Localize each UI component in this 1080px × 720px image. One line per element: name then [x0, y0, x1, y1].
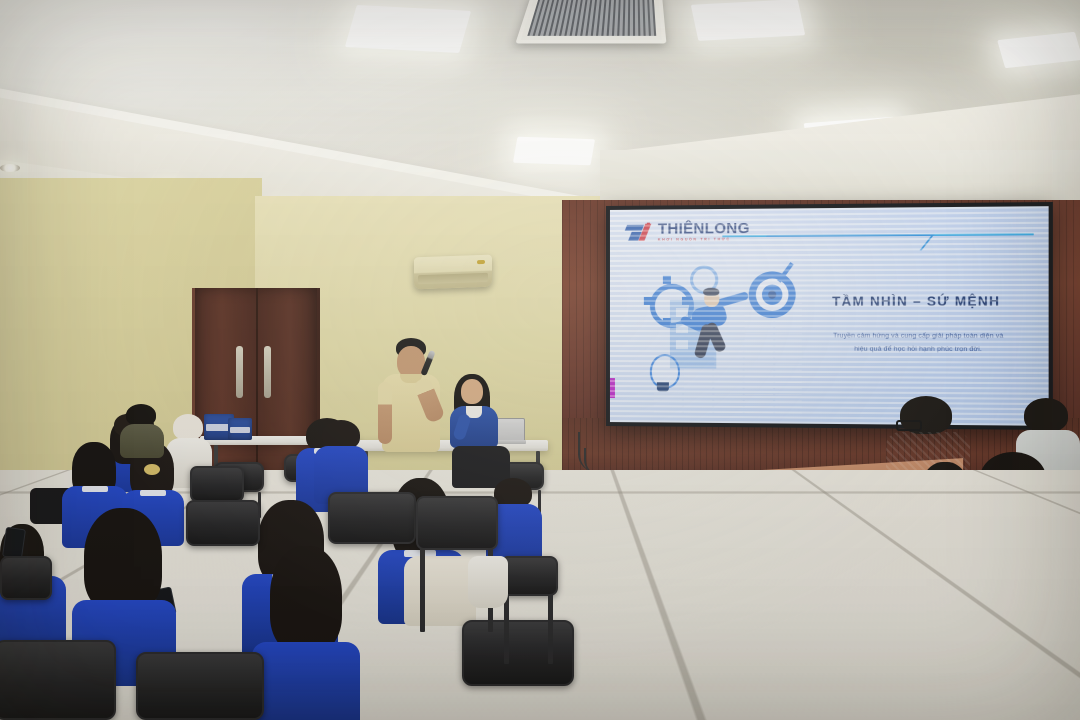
door-handle-left[interactable] — [236, 346, 243, 398]
gear-tooth — [644, 297, 652, 305]
host-head — [461, 379, 483, 404]
gear-tooth — [663, 276, 671, 284]
chair-backrest — [854, 492, 934, 548]
audience-member — [252, 546, 360, 720]
ac-vent — [418, 273, 488, 284]
audience-shirt-olive — [120, 424, 164, 458]
chair-backrest — [0, 556, 52, 600]
chair-backrest — [416, 496, 498, 550]
chart-bar — [745, 312, 774, 413]
bin-label — [230, 427, 250, 433]
ceiling-panel-light — [345, 5, 471, 53]
ac-indicator-led — [477, 260, 485, 264]
chair-leg — [548, 594, 553, 664]
chair-leg — [420, 548, 425, 632]
audience-hair — [270, 546, 342, 652]
audience-hair — [84, 508, 162, 612]
chair-backrest — [190, 466, 244, 502]
chair-leg — [504, 594, 509, 664]
chair-backrest — [462, 620, 574, 686]
ceiling-panel-light — [691, 0, 805, 41]
chair-backrest — [186, 500, 260, 546]
slide-header-chevron — [755, 234, 935, 251]
slide-subtitle: Truyền cảm hứng và cung cấp giải pháp to… — [798, 330, 1040, 356]
white-bag-on-chair — [468, 556, 508, 608]
audience-member — [314, 420, 368, 500]
slide-panel-row — [676, 340, 688, 349]
climbing-person-hair — [703, 288, 719, 296]
presentation-slide: THIÊNLONG KHƠI NGUỒN TRI THỨC — [610, 206, 1049, 426]
chair-leg — [892, 636, 898, 716]
audience-member — [120, 404, 164, 454]
brand-tagline: KHƠI NGUỒN TRI THỨC — [658, 238, 750, 242]
chair-leg — [990, 636, 996, 716]
thienlong-logo: THIÊNLONG KHƠI NGUỒN TRI THỨC — [626, 221, 750, 243]
recessed-downlight — [0, 164, 20, 172]
slide-illustration — [644, 261, 818, 420]
chair-backrest — [840, 600, 900, 644]
target-bullseye — [768, 291, 776, 299]
door-seam — [256, 288, 258, 478]
presentation-room-photo: THIÊNLONG KHƠI NGUỒN TRI THỨC — [0, 0, 1080, 720]
audience-hair — [1024, 398, 1068, 432]
audience-hair — [980, 452, 1046, 504]
ceiling-cassette-ac-icon — [515, 0, 666, 43]
slide-subtitle-line-2: hiệu quả để học hỏi hạnh phúc trọn đời. — [798, 343, 1040, 356]
chair-backrest — [0, 640, 116, 720]
chart-bar — [684, 366, 712, 413]
audience-collar — [140, 490, 166, 496]
wall-split-air-conditioner — [414, 255, 492, 290]
slide-subtitle-line-1: Truyền cảm hứng và cung cấp giải pháp to… — [798, 330, 1040, 343]
thienlong-logo-mark-icon — [626, 222, 654, 241]
slide-title: TẦM NHÌN – SỨ MỆNH — [802, 293, 1032, 309]
blue-storage-bin — [228, 418, 252, 440]
hair-scrunchie — [144, 464, 160, 475]
chair-backrest — [886, 560, 1002, 638]
chair-backrest — [1010, 528, 1080, 578]
ceiling-panel-light — [513, 137, 595, 166]
chair-backrest — [136, 652, 264, 720]
led-video-wall[interactable]: THIÊNLONG KHƠI NGUỒN TRI THỨC — [606, 202, 1053, 430]
audience-collar — [992, 500, 1032, 508]
audience-collar — [82, 486, 108, 492]
presenter-with-microphone — [378, 338, 448, 478]
smartphone[interactable] — [2, 527, 26, 559]
chart-bar — [654, 390, 682, 412]
eyeglasses-icon — [896, 420, 922, 431]
audience-hair — [173, 414, 203, 440]
screen-edge-artifact — [610, 378, 615, 398]
audience-hair — [126, 404, 156, 426]
door-handle-right[interactable] — [264, 346, 271, 398]
cassette-grille — [527, 0, 656, 36]
audience-uniform-shirt — [252, 642, 360, 720]
chair-backrest — [328, 492, 416, 544]
audience-shirt-cream — [404, 556, 476, 626]
presenter-arm-left — [378, 382, 392, 444]
chair-backrest — [500, 556, 558, 596]
chair-leg — [924, 546, 929, 624]
seated-host-at-table — [448, 374, 502, 450]
